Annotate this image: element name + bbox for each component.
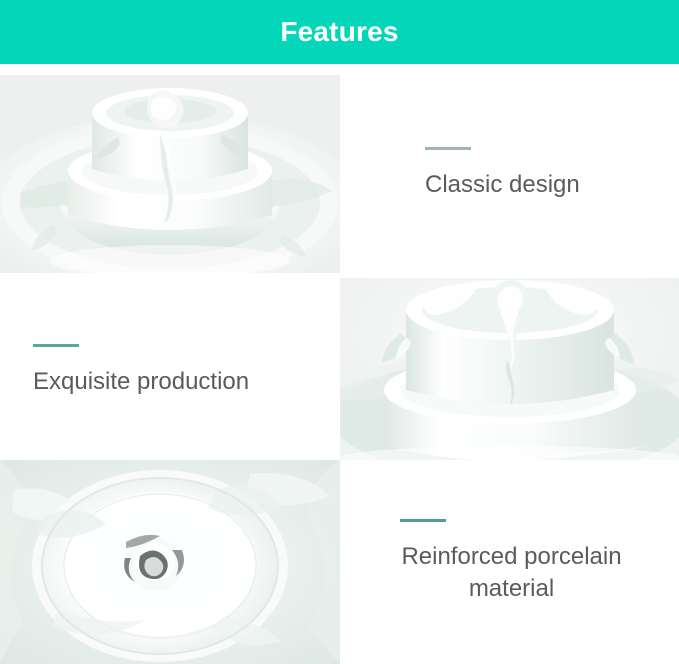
feature-text-reinforced-porcelain: Reinforced porcelain material <box>340 460 679 664</box>
feature-grid: Classic design Exquisite production <box>0 64 679 664</box>
feature-label-exquisite-production: Exquisite production <box>33 366 322 398</box>
feature-text-classic-design: Classic design <box>340 75 679 273</box>
accent-rule-2 <box>33 344 79 347</box>
feature-image-exquisite-production <box>340 278 679 465</box>
accent-rule-3 <box>400 519 446 522</box>
fountain-closeup-photo <box>340 278 679 465</box>
accent-rule-1 <box>425 147 471 150</box>
fountain-top-view-photo <box>0 460 340 664</box>
feature-row-2: Exquisite production <box>0 278 679 465</box>
feature-text-exquisite-production: Exquisite production <box>0 278 340 465</box>
fountain-front-view-illustration <box>0 75 340 273</box>
page-title: Features <box>280 18 398 46</box>
feature-image-reinforced-porcelain <box>0 460 340 664</box>
features-header-banner: Features <box>0 0 679 64</box>
fountain-closeup-illustration <box>340 278 679 465</box>
fountain-front-view-photo <box>0 75 340 273</box>
fountain-top-view-illustration <box>0 460 340 664</box>
feature-row-3: Reinforced porcelain material <box>0 460 679 664</box>
feature-label-classic-design: Classic design <box>425 169 661 201</box>
feature-label-reinforced-porcelain: Reinforced porcelain material <box>401 541 621 606</box>
feature-image-classic-design <box>0 75 340 273</box>
feature-row-1: Classic design <box>0 75 679 273</box>
